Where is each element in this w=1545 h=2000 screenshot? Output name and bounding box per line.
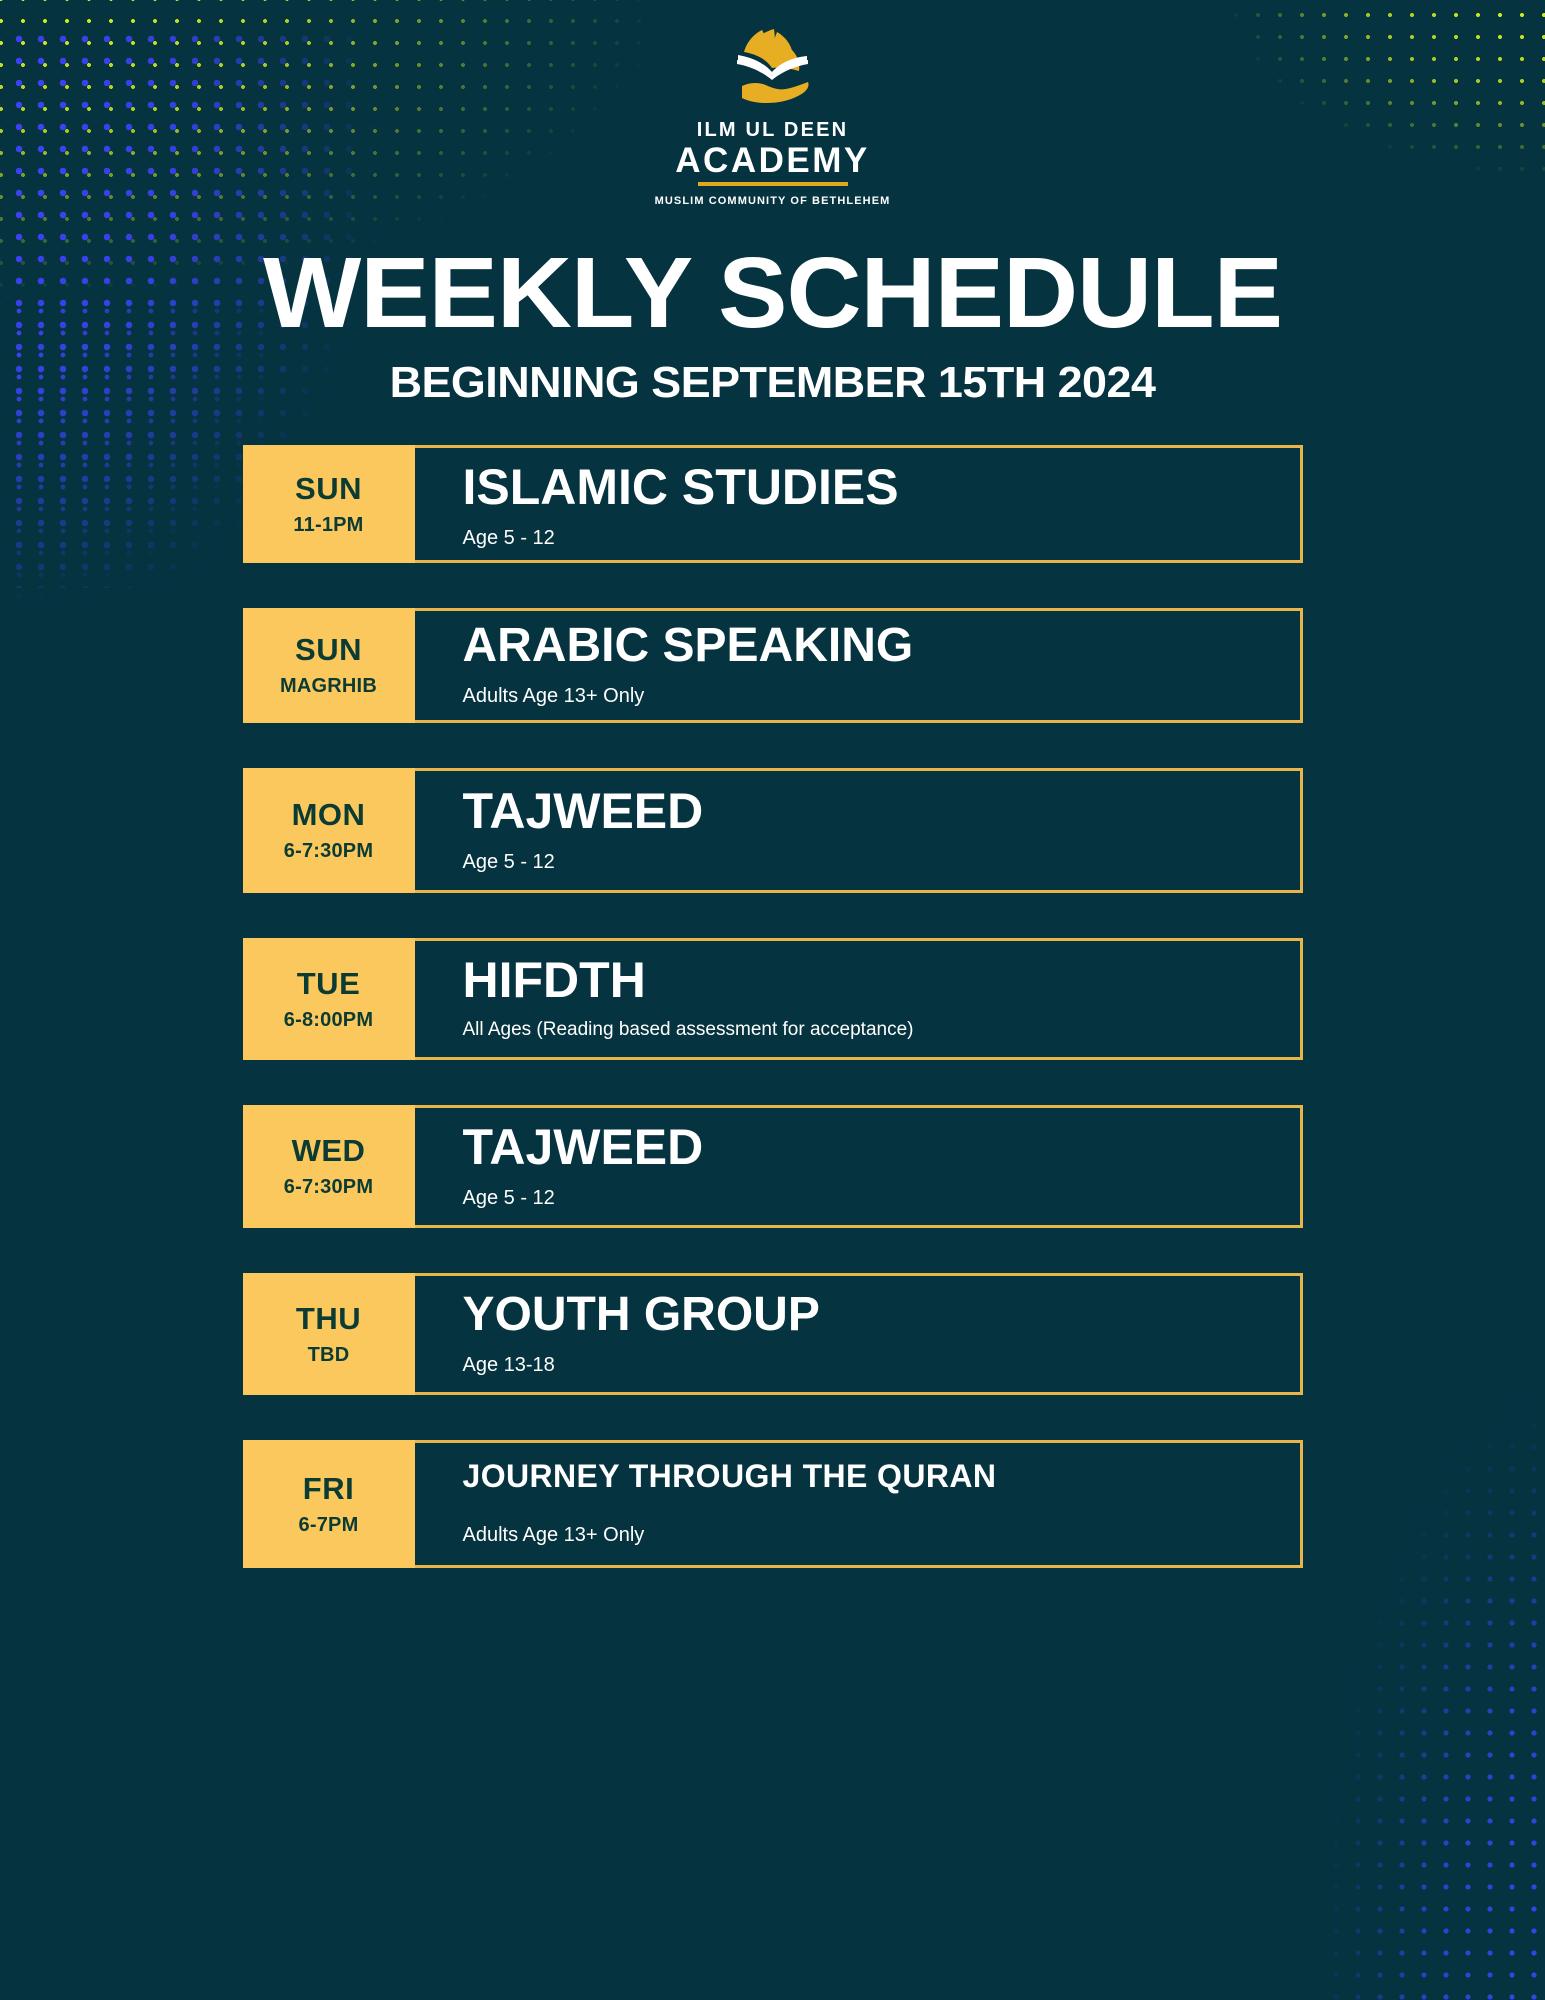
course-cell: TAJWEED Age 5 - 12: [415, 1105, 1303, 1228]
open-book-in-hand-logo-icon: [708, 26, 838, 114]
course-cell: HIFDTH All Ages (Reading based assessmen…: [415, 938, 1303, 1060]
course-age-range: Age 13-18: [463, 1353, 1300, 1377]
schedule-row: THU TBD YOUTH GROUP Age 13-18: [243, 1273, 1303, 1395]
day-name: THU: [296, 1303, 361, 1334]
course-age-range: Age 5 - 12: [463, 850, 1300, 874]
day-time: 6-8:00PM: [284, 1010, 373, 1030]
day-name: SUN: [295, 473, 362, 504]
course-title: JOURNEY THROUGH THE QURAN: [463, 1460, 1300, 1493]
course-title: HIFDTH: [463, 955, 1300, 1006]
day-time: 6-7PM: [299, 1515, 359, 1535]
day-cell: TUE 6-8:00PM: [243, 938, 415, 1060]
logo-tagline: MUSLIM COMMUNITY OF BETHLEHEM: [0, 195, 1545, 207]
schedule-row: SUN MAGRHIB ARABIC SPEAKING Adults Age 1…: [243, 608, 1303, 723]
course-age-range: Age 5 - 12: [463, 1186, 1300, 1210]
logo-name-line1: ILM UL DEEN: [0, 120, 1545, 140]
day-time: MAGRHIB: [280, 676, 377, 696]
day-cell: WED 6-7:30PM: [243, 1105, 415, 1228]
day-time: 6-7:30PM: [284, 841, 373, 861]
schedule-row: MON 6-7:30PM TAJWEED Age 5 - 12: [243, 768, 1303, 893]
day-cell: SUN 11-1PM: [243, 445, 415, 563]
day-name: TUE: [297, 968, 361, 999]
course-cell: YOUTH GROUP Age 13-18: [415, 1273, 1303, 1395]
brand-logo-block: ILM UL DEEN ACADEMY MUSLIM COMMUNITY OF …: [0, 0, 1545, 207]
day-name: SUN: [295, 634, 362, 665]
day-time: 6-7:30PM: [284, 1177, 373, 1197]
course-title: YOUTH GROUP: [463, 1291, 1300, 1340]
course-age-range: Adults Age 13+ Only: [463, 1523, 1300, 1547]
day-cell: FRI 6-7PM: [243, 1440, 415, 1568]
course-cell: TAJWEED Age 5 - 12: [415, 768, 1303, 893]
course-cell: ARABIC SPEAKING Adults Age 13+ Only: [415, 608, 1303, 723]
schedule-list: SUN 11-1PM ISLAMIC STUDIES Age 5 - 12 SU…: [243, 445, 1303, 1568]
course-title: TAJWEED: [463, 786, 1300, 837]
day-name: WED: [292, 1135, 366, 1166]
day-name: FRI: [303, 1473, 354, 1504]
course-age-range: All Ages (Reading based assessment for a…: [463, 1019, 1300, 1042]
day-time: TBD: [308, 1345, 350, 1365]
logo-divider-rule: [698, 182, 848, 186]
schedule-row: WED 6-7:30PM TAJWEED Age 5 - 12: [243, 1105, 1303, 1228]
schedule-row: SUN 11-1PM ISLAMIC STUDIES Age 5 - 12: [243, 445, 1303, 563]
day-time: 11-1PM: [293, 515, 363, 535]
course-age-range: Age 5 - 12: [463, 526, 1300, 550]
day-name: MON: [292, 799, 366, 830]
halftone-dots-bottom-right-blue: [1325, 1260, 1545, 2000]
course-cell: ISLAMIC STUDIES Age 5 - 12: [415, 445, 1303, 563]
page-title: WEEKLY SCHEDULE: [0, 243, 1545, 343]
weekly-schedule-poster: ILM UL DEEN ACADEMY MUSLIM COMMUNITY OF …: [0, 0, 1545, 2000]
course-title: ARABIC SPEAKING: [463, 622, 1300, 671]
day-cell: MON 6-7:30PM: [243, 768, 415, 893]
course-age-range: Adults Age 13+ Only: [463, 684, 1300, 708]
schedule-row: FRI 6-7PM JOURNEY THROUGH THE QURAN Adul…: [243, 1440, 1303, 1568]
day-cell: THU TBD: [243, 1273, 415, 1395]
course-title: ISLAMIC STUDIES: [463, 462, 1300, 513]
schedule-row: TUE 6-8:00PM HIFDTH All Ages (Reading ba…: [243, 938, 1303, 1060]
page-subtitle: BEGINNING SEPTEMBER 15TH 2024: [0, 361, 1545, 405]
logo-name-line2: ACADEMY: [0, 142, 1545, 180]
course-title: TAJWEED: [463, 1122, 1300, 1173]
day-cell: SUN MAGRHIB: [243, 608, 415, 723]
course-cell: JOURNEY THROUGH THE QURAN Adults Age 13+…: [415, 1440, 1303, 1568]
